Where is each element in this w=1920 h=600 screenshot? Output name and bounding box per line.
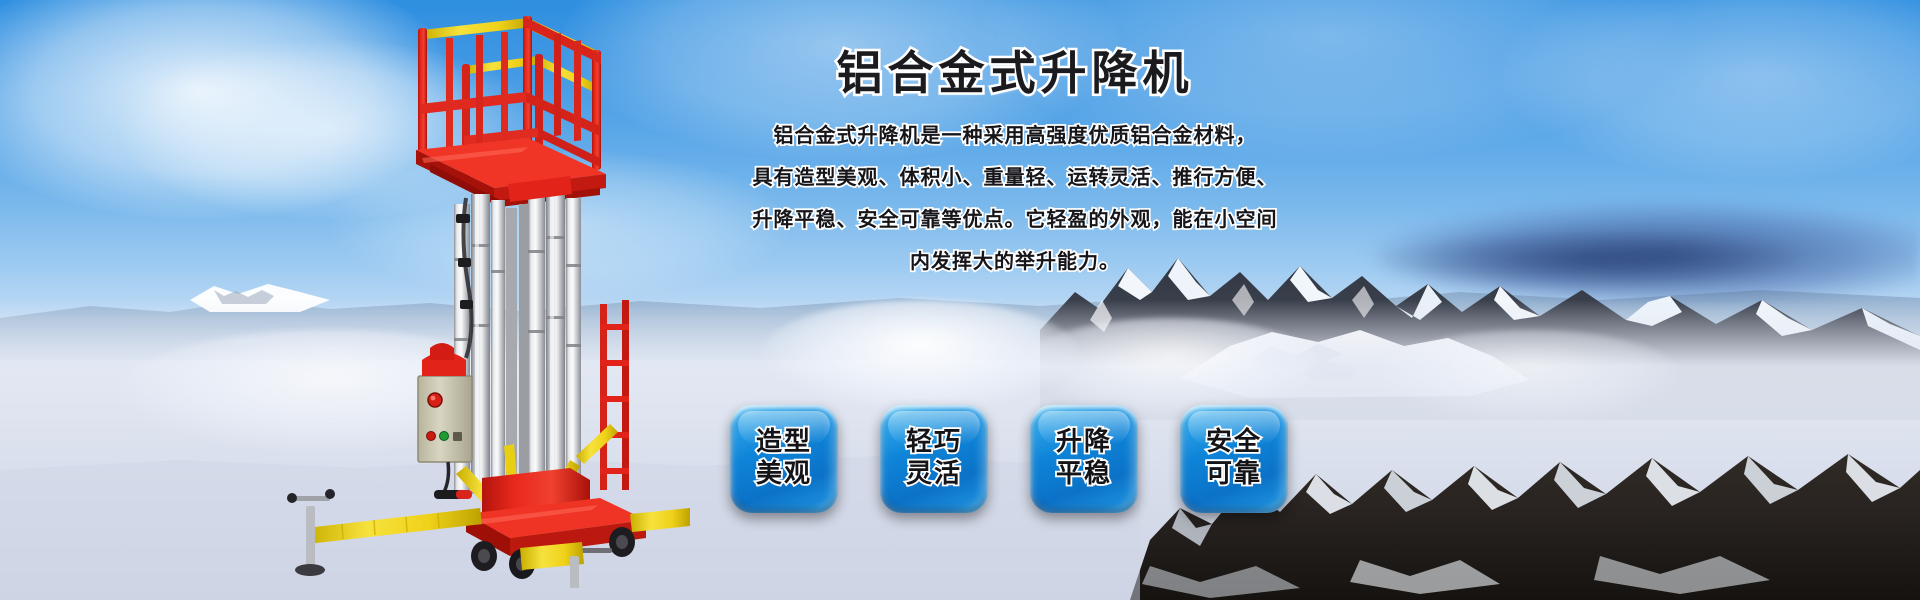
side-ladder [576, 300, 629, 490]
badge-line-1: 造型 [756, 427, 812, 459]
feature-badge-safety[interactable]: 安全 可靠 [1180, 405, 1288, 513]
copy-block: 铝合金式升降机 铝合金式升降机是一种采用高强度优质铝合金材料， 具有造型美观、体… [735, 48, 1295, 271]
cloud-lump [1020, 318, 1320, 414]
badge-line-1: 升降 [1056, 427, 1112, 459]
badge-line-1: 轻巧 [906, 427, 962, 459]
mast-columns [454, 176, 581, 494]
cloud-lump [1380, 330, 1680, 420]
feature-badge-smooth-lift[interactable]: 升降 平稳 [1030, 405, 1138, 513]
promo-banner: 铝合金式升降机 铝合金式升降机是一种采用高强度优质铝合金材料， 具有造型美观、体… [0, 0, 1920, 600]
platform-cage [416, 16, 606, 207]
badge-line-2: 可靠 [1206, 459, 1262, 491]
feature-badge-lightweight[interactable]: 轻巧 灵活 [880, 405, 988, 513]
badge-line-2: 美观 [756, 459, 812, 491]
description-line: 具有造型美观、体积小、重量轻、运转灵活、推行方便、 [735, 167, 1295, 187]
feature-badge-appearance[interactable]: 造型 美观 [730, 405, 838, 513]
badge-line-1: 安全 [1206, 427, 1262, 459]
page-title: 铝合金式升降机 [735, 48, 1295, 99]
badge-line-2: 平稳 [1056, 459, 1112, 491]
description-line: 升降平稳、安全可靠等优点。它轻盈的外观，能在小空间 [735, 209, 1295, 229]
dark-cloud-band [1380, 225, 1800, 295]
feature-badge-list: 造型 美观 轻巧 灵活 升降 平稳 安全 可靠 [730, 405, 1288, 513]
description-paragraph: 铝合金式升降机是一种采用高强度优质铝合金材料， 具有造型美观、体积小、重量轻、运… [735, 125, 1295, 271]
description-line: 铝合金式升降机是一种采用高强度优质铝合金材料， [735, 125, 1295, 145]
description-line: 内发挥大的举升能力。 [735, 251, 1295, 271]
badge-line-2: 灵活 [906, 459, 962, 491]
product-image-lift [270, 8, 690, 588]
